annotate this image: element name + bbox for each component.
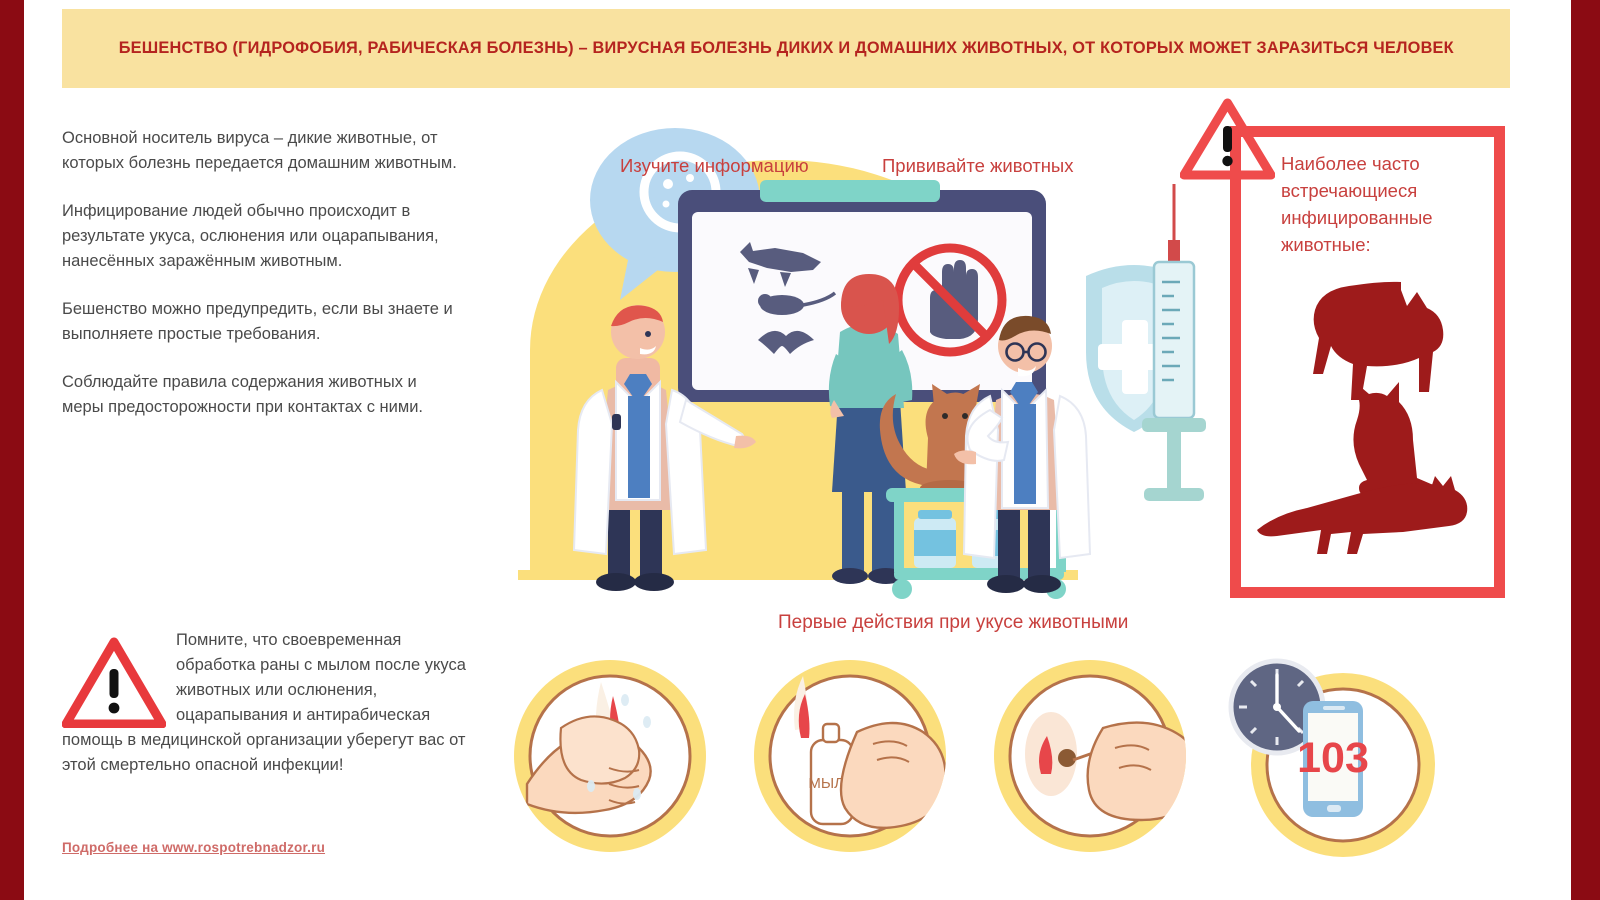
wash-wound-step [514, 660, 706, 852]
more-info-link[interactable]: Подробнее на www.rospotrebnadzor.ru [62, 840, 325, 855]
paragraph-prevention: Бешенство можно предупредить, если вы зн… [62, 297, 462, 347]
paragraph-infection: Инфицирование людей обычно происходит в … [62, 199, 462, 274]
paragraph-carrier: Основной носитель вируса – дикие животны… [62, 126, 462, 176]
antiseptic-step [994, 660, 1199, 852]
emergency-number: 103 [1297, 734, 1369, 782]
clinic-scene-svg [490, 100, 1220, 600]
call-ambulance-step: 103 [1215, 645, 1455, 875]
left-text-column: Основной носитель вируса – дикие животны… [62, 126, 462, 443]
poster-root: БЕШЕНСТВО (ГИДРОФОБИЯ, РАБИЧЕСКАЯ БОЛЕЗН… [0, 0, 1600, 900]
animal-silhouettes [1255, 272, 1485, 572]
soap-step: МЫЛО [754, 660, 946, 852]
label-study-information: Изучите информацию [620, 155, 809, 177]
warning-triangle-icon [62, 628, 170, 728]
warning-block: Помните, что своевременная обработка ран… [62, 628, 467, 778]
right-accent-stripe [1571, 0, 1600, 900]
page-title: БЕШЕНСТВО (ГИДРОФОБИЯ, РАБИЧЕСКАЯ БОЛЕЗН… [118, 39, 1453, 58]
bite-steps-row: МЫЛО [505, 636, 1245, 886]
warning-triangle-icon [1180, 98, 1275, 180]
header-banner: БЕШЕНСТВО (ГИДРОФОБИЯ, РАБИЧЕСКАЯ БОЛЕЗН… [62, 9, 1510, 88]
center-illustration: Изучите информацию Прививайте животных [490, 100, 1220, 600]
left-accent-stripe [0, 0, 24, 900]
paragraph-rules: Соблюдайте правила содержания животных и… [62, 370, 462, 420]
bite-actions-title: Первые действия при укусе животными [778, 612, 1128, 634]
panel-heading: Наиболее часто встречающиеся инфицирован… [1281, 150, 1481, 258]
label-vaccinate-animals: Прививайте животных [882, 155, 1073, 177]
dog-silhouette-icon [1313, 282, 1443, 400]
